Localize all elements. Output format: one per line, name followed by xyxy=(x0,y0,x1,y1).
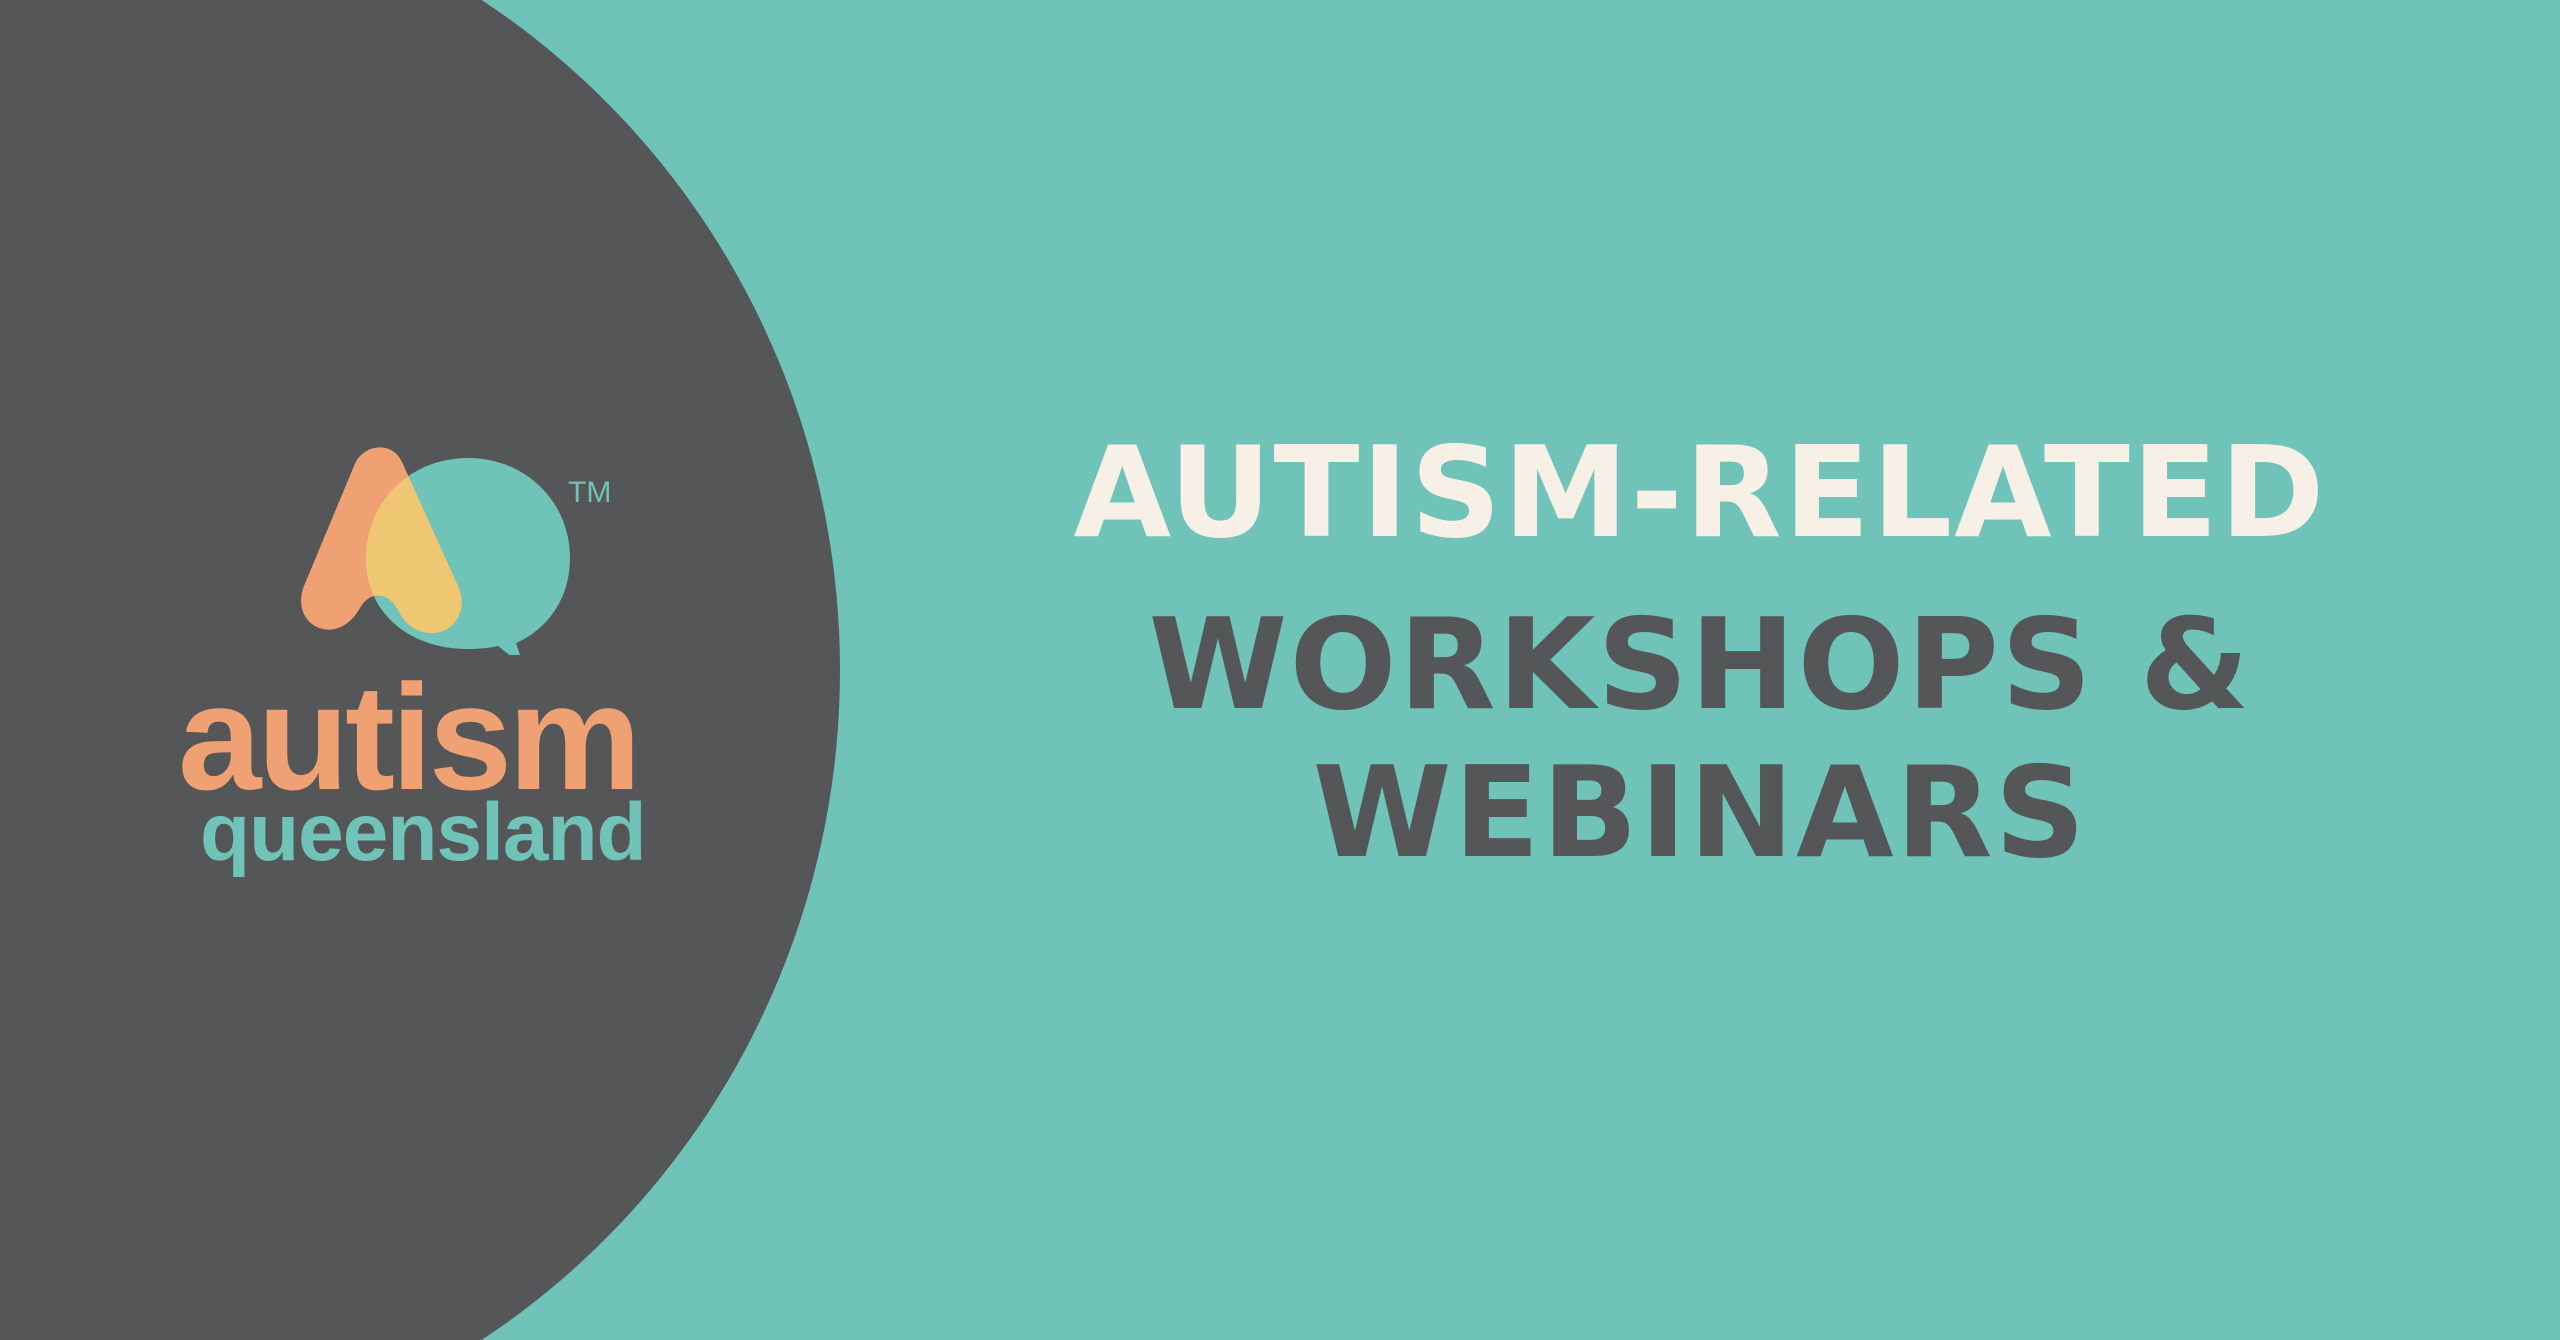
autism-queensland-logo: TM autism queensland xyxy=(178,440,778,900)
headline-line-1: AUTISM-RELATED xyxy=(880,430,2520,556)
headline-block: AUTISM-RELATED WORKSHOPS & WEBINARS xyxy=(880,430,2520,876)
headline-line-3: WEBINARS xyxy=(880,750,2520,876)
autism-queensland-logo-mark xyxy=(288,440,588,655)
logo-wordmark-secondary: queensland xyxy=(200,792,800,874)
banner: TM autism queensland AUTISM-RELATED WORK… xyxy=(0,0,2560,1340)
trademark-symbol: TM xyxy=(568,478,611,508)
headline-line-2: WORKSHOPS & xyxy=(880,602,2520,728)
